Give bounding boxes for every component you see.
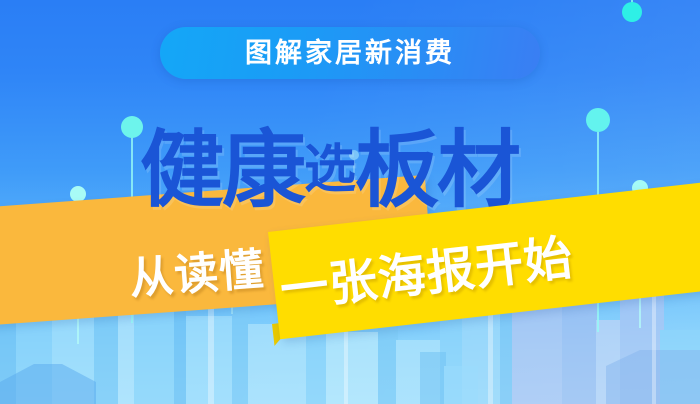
headline-part-2: 选 [304,141,355,199]
top-banner-pill: 图解家居新消费 [160,27,540,79]
pin-dot [622,2,642,22]
headline-part-1: 健康 [140,123,304,217]
headline-part-3: 板材 [355,123,519,217]
poster-canvas: 图解家居新消费 健康选板材 从读懂 一张海报开始 [0,0,700,404]
subtitle-left: 从读懂 [128,248,266,302]
pin-dot [586,108,610,132]
page-title: 健康选板材 [140,128,519,212]
top-banner-label: 图解家居新消费 [245,40,455,67]
